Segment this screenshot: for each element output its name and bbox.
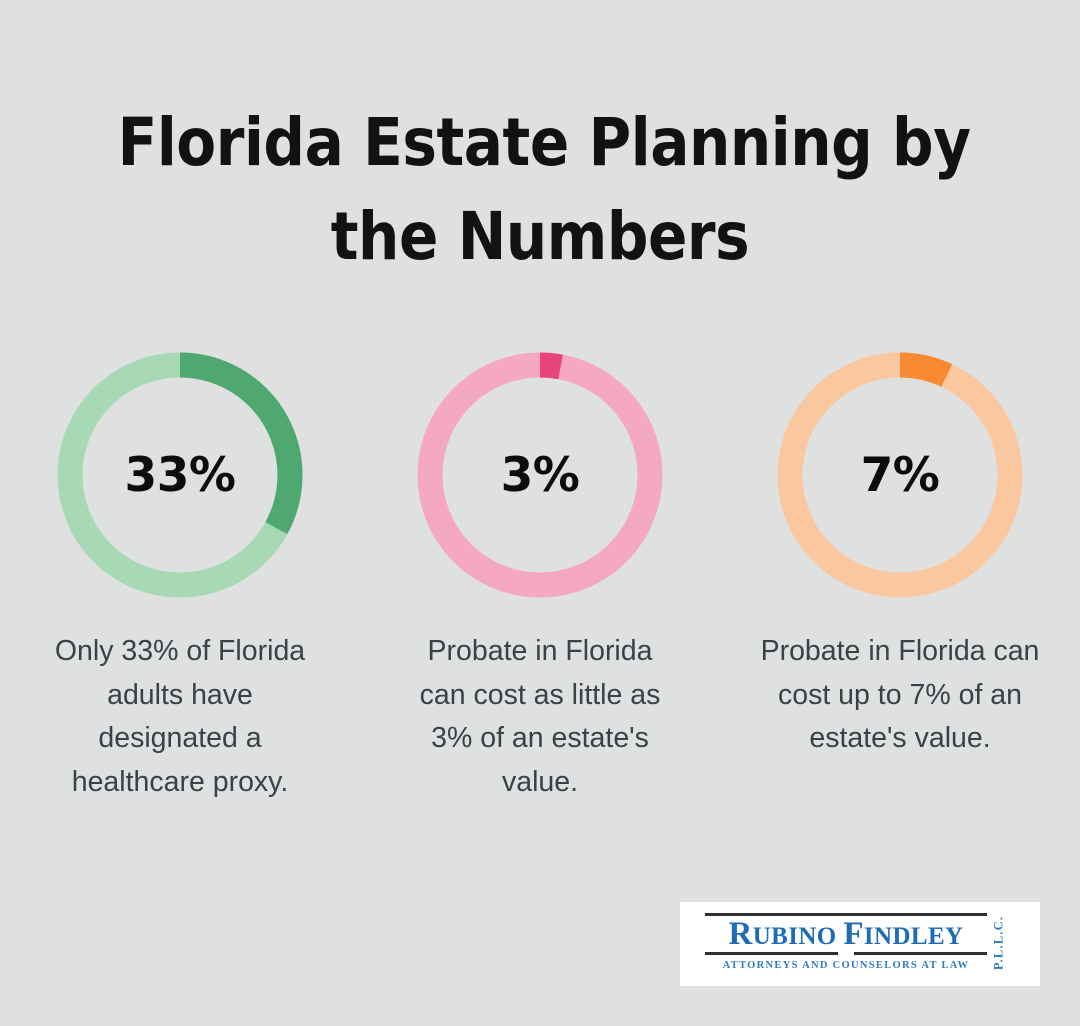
logo-cap-r: R [728,916,752,952]
infographic-canvas: Florida Estate Planning by the Numbers 3… [0,0,1080,1026]
title-line-1: Florida Estate Planning by [118,96,963,190]
stat-card-probate-max-cost: 7% Probate in Florida can cost up to 7% … [720,352,1080,761]
logo-cap-f: F [843,916,864,952]
logo-tagline: ATTORNEYS AND COUNSELORS AT LAW [705,960,987,971]
stat-caption-probate-min-cost: Probate in Florida can cost as little as… [405,630,675,804]
stat-card-probate-min-cost: 3% Probate in Florida can cost as little… [360,352,720,804]
firm-logo[interactable]: RUBINO FINDLEY ATTORNEYS AND COUNSELORS … [680,902,1040,986]
stat-card-healthcare-proxy: 33% Only 33% of Florida adults have desi… [0,352,360,804]
logo-word-rubino: UBINO [753,923,837,950]
donut-chart-healthcare-proxy: 33% [57,352,303,598]
logo-suffix-text: P.L.L.C. [992,916,1007,970]
logo-bottom-rule-left [705,952,838,955]
logo-bottom-rules [705,952,987,955]
donut-chart-probate-max-cost: 7% [777,352,1023,598]
logo-inner: RUBINO FINDLEY ATTORNEYS AND COUNSELORS … [705,913,1015,975]
stat-caption-healthcare-proxy: Only 33% of Florida adults have designat… [35,630,325,804]
title-line-2: the Numbers [118,190,963,284]
logo-firm-name: RUBINO FINDLEY [705,918,987,951]
logo-bottom-rule-right [854,952,987,955]
logo-word-findley: INDLEY [864,923,964,950]
donut-label-probate-min-cost: 3% [417,352,663,598]
donut-chart-probate-min-cost: 3% [417,352,663,598]
stats-row: 33% Only 33% of Florida adults have desi… [0,352,1080,804]
page-title: Florida Estate Planning by the Numbers [60,96,1020,283]
logo-main: RUBINO FINDLEY ATTORNEYS AND COUNSELORS … [705,913,987,971]
logo-suffix: P.L.L.C. [987,913,1011,973]
donut-label-probate-max-cost: 7% [777,352,1023,598]
stat-caption-probate-max-cost: Probate in Florida can cost up to 7% of … [760,630,1040,761]
donut-label-healthcare-proxy: 33% [57,352,303,598]
